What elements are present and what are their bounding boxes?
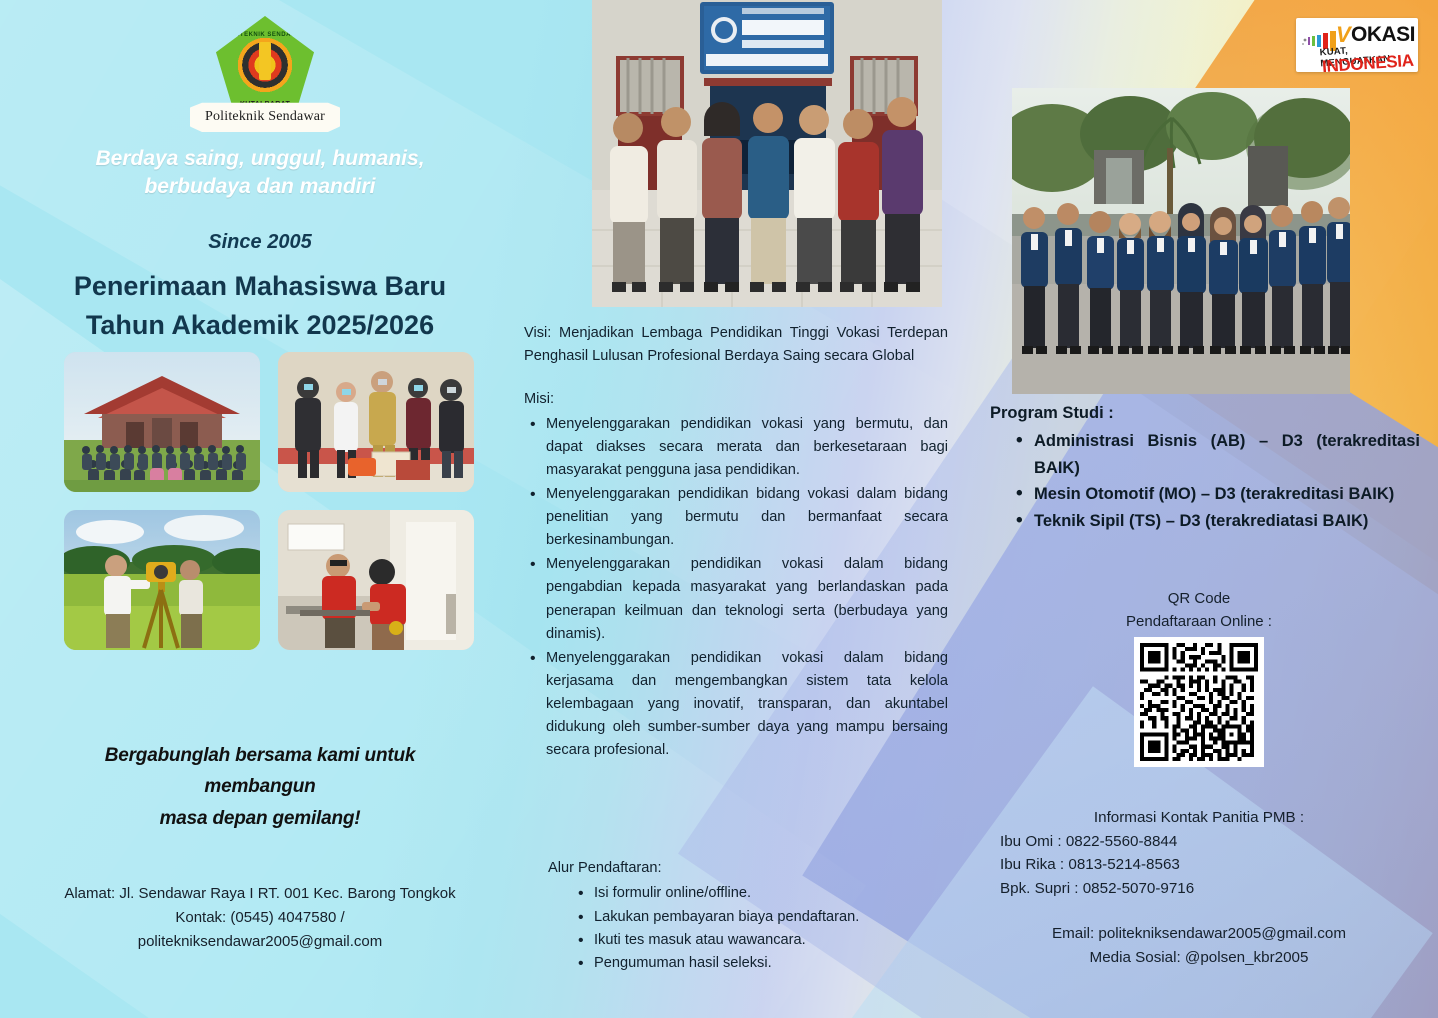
photo-grid [64, 352, 474, 657]
cta-line-2: masa depan gemilang! [55, 803, 465, 834]
email-line: politekniksendawar2005@gmail.com [40, 930, 480, 954]
list-item: Pengumuman hasil seleksi. [576, 952, 948, 975]
tagline-line-2: berbudaya dan mandiri [60, 173, 460, 201]
page-title: Penerimaan Mahasiswa Baru Tahun Akademik… [45, 267, 475, 345]
crest-torch-icon [259, 42, 271, 80]
list-item: Menyelenggarakan pendidikan vokasi yang … [524, 413, 948, 482]
registration-flow-block: Alur Pendaftaran: Isi formulir online/of… [548, 857, 948, 976]
logo-ribbon-banner: Politeknik Sendawar [190, 100, 340, 134]
contact-title: Informasi Kontak Panitia PMB : [960, 806, 1438, 830]
call-to-action: Bergabunglah bersama kami untuk membangu… [55, 740, 465, 834]
list-item: Menyelenggarakan pendidikan bidang vokas… [524, 483, 948, 552]
institution-logo: POLITEKNIK SENDAWAR KUTAI BARAT Politekn… [190, 16, 340, 141]
address-line: Alamat: Jl. Sendawar Raya I RT. 001 Kec.… [40, 882, 480, 906]
welding-workshop-photo [278, 510, 474, 650]
contact-row: Bpk. Supri : 0852-5070-9716 [960, 877, 1438, 901]
contact-social: Media Sosial: @polsen_kbr2005 [960, 946, 1438, 970]
students-group-photo [1012, 88, 1350, 394]
registration-flow-list: Isi formulir online/offline. Lakukan pem… [576, 882, 948, 975]
poster-root: POLITEKNIK SENDAWAR KUTAI BARAT Politekn… [0, 0, 1438, 1018]
tagline-line-1: Berdaya saing, unggul, humanis, [60, 145, 460, 173]
program-studi-label: Program Studi : [990, 400, 1420, 426]
contact-row: Ibu Omi : 0822-5560-8844 [960, 830, 1438, 854]
list-item: Isi formulir online/offline. [576, 882, 948, 905]
vokasi-v-letter: V [1336, 24, 1351, 46]
qr-label: QR Code Pendaftaraan Online : [960, 588, 1438, 633]
institution-tagline: Berdaya saing, unggul, humanis, berbuday… [60, 145, 460, 202]
phone-line: Kontak: (0545) 4047580 / [40, 906, 480, 930]
surveying-field-photo [64, 510, 260, 650]
left-column: POLITEKNIK SENDAWAR KUTAI BARAT Politekn… [0, 0, 500, 1018]
campus-group-photo [64, 352, 260, 492]
list-item: Ikuti tes masuk atau wawancara. [576, 929, 948, 952]
headline-line-1: Penerimaan Mahasiswa Baru [45, 267, 475, 306]
list-item: Menyelenggarakan pendidikan vokasi dalam… [524, 647, 948, 762]
directorate-building-photo [592, 0, 942, 307]
mission-list: Menyelenggarakan pendidikan vokasi yang … [524, 413, 948, 762]
pentagon-crest-icon: POLITEKNIK SENDAWAR KUTAI BARAT [216, 16, 314, 114]
contact-row: Ibu Rika : 0813-5214-8563 [960, 853, 1438, 877]
vision-mission-block: Visi: Menjadikan Lembaga Pendidikan Ting… [524, 322, 948, 763]
list-item: Administrasi Bisnis (AB) – D3 (terakredi… [1012, 428, 1420, 481]
qr-code-icon [1140, 643, 1258, 761]
registration-flow-label: Alur Pendaftaran: [548, 857, 948, 880]
cta-line-1: Bergabunglah bersama kami untuk membangu… [55, 740, 465, 803]
vision-text: Visi: Menjadikan Lembaga Pendidikan Ting… [524, 322, 948, 368]
program-studi-block: Program Studi : Administrasi Bisnis (AB)… [990, 400, 1420, 534]
contact-email: Email: politekniksendawar2005@gmail.com [960, 922, 1438, 946]
list-item: Lakukan pembayaran biaya pendaftaran. [576, 906, 948, 929]
qr-label-line-2: Pendaftaraan Online : [960, 611, 1438, 634]
address-block: Alamat: Jl. Sendawar Raya I RT. 001 Kec.… [40, 882, 480, 954]
qr-code[interactable] [1134, 637, 1264, 767]
mission-label: Misi: [524, 388, 948, 411]
program-studi-list: Administrasi Bisnis (AB) – D3 (terakredi… [1012, 428, 1420, 534]
logo-ribbon-label: Politeknik Sendawar [205, 109, 325, 125]
list-item: Menyelenggarakan pendidikan vokasi dalam… [524, 553, 948, 645]
right-column: V OKASI KUAT, MENGUATKAN INDONESIA [960, 0, 1438, 1018]
middle-column: Visi: Menjadikan Lembaga Pendidikan Ting… [510, 0, 960, 1018]
vokasi-indonesia-logo: V OKASI KUAT, MENGUATKAN INDONESIA [1296, 18, 1418, 72]
contact-block: Informasi Kontak Panitia PMB : Ibu Omi :… [960, 806, 1438, 901]
since-label: Since 2005 [60, 231, 460, 254]
list-item: Mesin Otomotif (MO) – D3 (terakreditasi … [1012, 481, 1420, 507]
donation-handover-photo [278, 352, 474, 492]
list-item: Teknik Sipil (TS) – D3 (terakrediatasi B… [1012, 508, 1420, 534]
qr-label-line-1: QR Code [960, 588, 1438, 611]
email-social-block: Email: politekniksendawar2005@gmail.com … [960, 922, 1438, 971]
headline-line-2: Tahun Akademik 2025/2026 [45, 306, 475, 345]
